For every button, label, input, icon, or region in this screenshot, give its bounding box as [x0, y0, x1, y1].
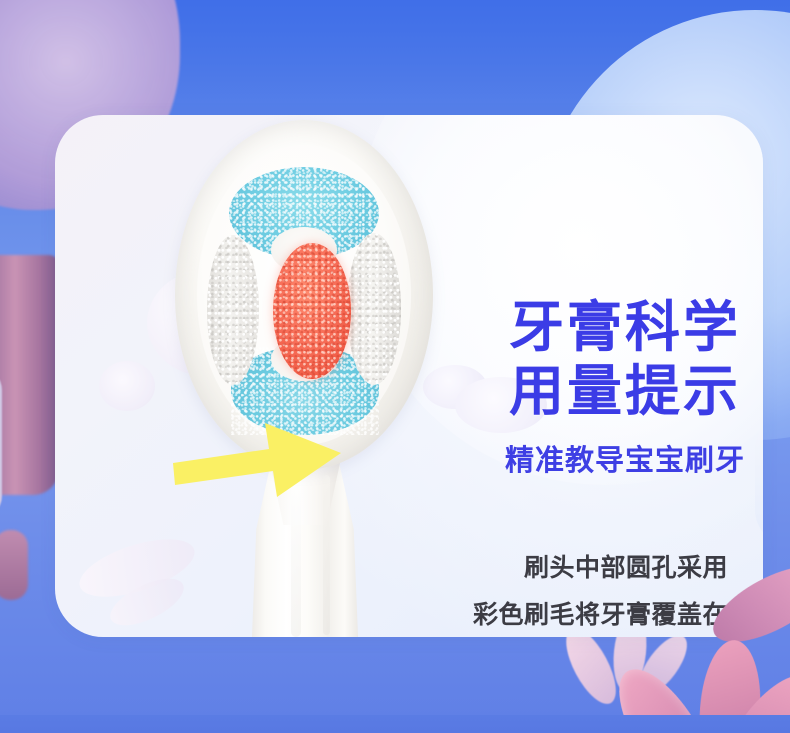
advertisement-banner: 牙膏科学 用量提示 精准教导宝宝刷牙 刷头中部圆孔采用 彩色刷毛将牙膏覆盖在彩色… — [0, 0, 790, 733]
bristle-center-coral-oval — [273, 243, 351, 379]
headline-line-1: 牙膏科学 — [455, 295, 763, 359]
bristle-texture — [273, 243, 351, 379]
decor-left-toothpaste-bottle — [0, 255, 59, 495]
bristle-white-right — [347, 233, 401, 385]
bristle-texture — [347, 233, 401, 385]
yellow-arrow-icon — [173, 413, 348, 503]
decor-left-bottle-cap — [0, 368, 2, 518]
subtitle: 精准教导宝宝刷牙 — [455, 441, 763, 481]
headline-line-2: 用量提示 — [455, 359, 763, 423]
bristle-texture — [207, 235, 259, 385]
body-line-1: 刷头中部圆孔采用 — [443, 545, 763, 592]
headline-block: 牙膏科学 用量提示 精准教导宝宝刷牙 — [455, 295, 763, 481]
content-card: 牙膏科学 用量提示 精准教导宝宝刷牙 刷头中部圆孔采用 彩色刷毛将牙膏覆盖在彩色… — [55, 115, 763, 637]
bristle-white-left — [207, 235, 259, 385]
background-bottom-band — [0, 715, 790, 733]
decor-left-bottle-neck — [0, 530, 28, 600]
